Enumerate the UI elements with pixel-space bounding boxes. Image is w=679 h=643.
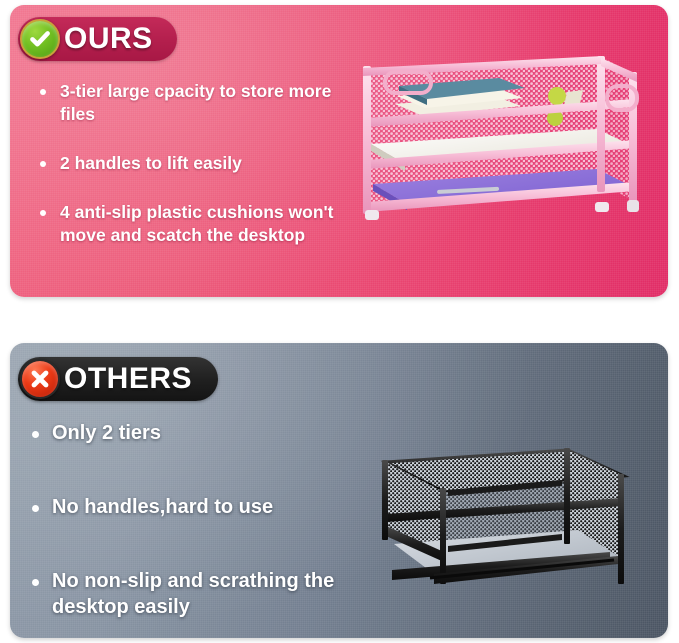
list-item: No non-slip and scrathing the desktop ea… — [30, 568, 360, 620]
list-item: Only 2 tiers — [30, 420, 360, 446]
ours-feature-list: 3-tier large cpacity to store more files… — [38, 80, 338, 273]
list-item: No handles,hard to use — [30, 494, 360, 520]
check-circle-icon — [20, 19, 60, 59]
pink-3-tier-organizer-image — [345, 52, 655, 257]
others-feature-list: Only 2 tiers No handles,hard to use No n… — [30, 420, 360, 620]
x-circle-icon — [20, 359, 60, 399]
others-badge-label: OTHERS — [64, 364, 192, 394]
black-2-tier-organizer-image — [352, 448, 652, 618]
list-item: 3-tier large cpacity to store more files — [38, 80, 338, 126]
list-item: 4 anti-slip plastic cushions won't move … — [38, 201, 338, 247]
list-item: 2 handles to lift easily — [38, 152, 338, 175]
ours-badge-label: OURS — [64, 24, 153, 54]
